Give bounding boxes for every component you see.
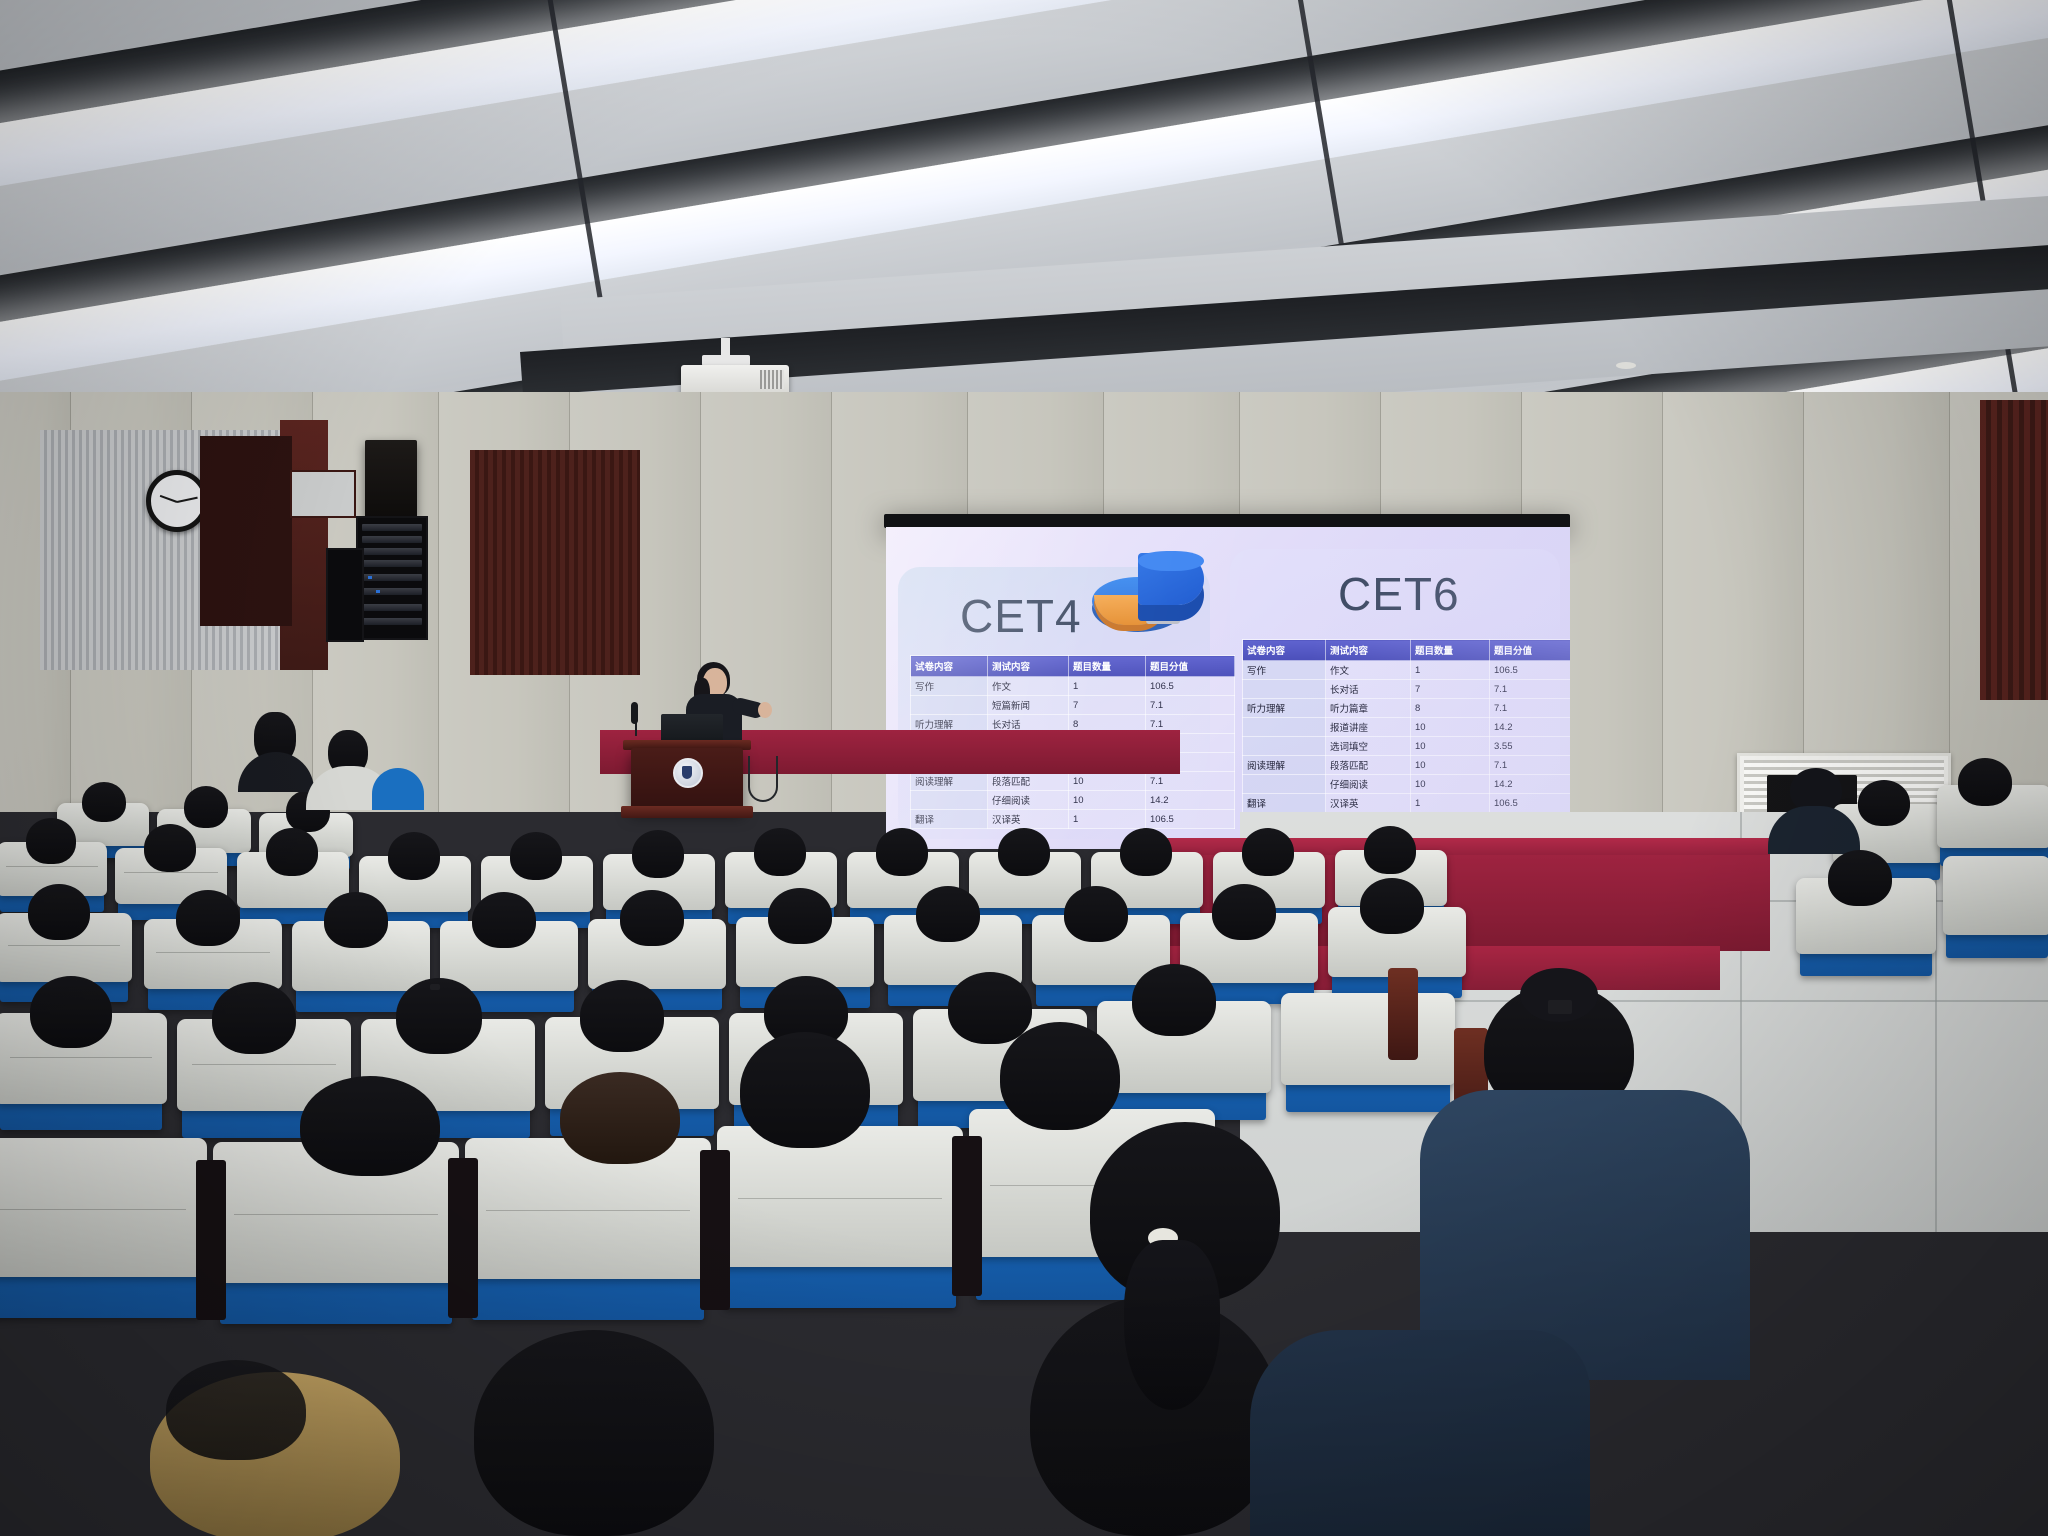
cet6-th-3: 题目分值 [1490, 640, 1571, 661]
rack-status-led [368, 576, 372, 579]
cet4-section-1 [911, 696, 988, 715]
cet6-count-5: 10 [1411, 756, 1490, 775]
cet6-content-4: 选词填空 [1326, 737, 1411, 756]
cet6-content-3: 报道讲座 [1326, 718, 1411, 737]
audience-head [1064, 886, 1128, 942]
audience-head [1364, 826, 1416, 874]
audience-head [560, 1072, 680, 1164]
cet6-content-5: 段落匹配 [1326, 756, 1411, 775]
cet4-th-3: 题目分值 [1146, 656, 1235, 677]
rack-status-led [376, 590, 380, 593]
seat-gap-shadow [952, 1136, 982, 1296]
audience-head [1212, 884, 1276, 940]
cet6-content-1: 长对话 [1326, 680, 1411, 699]
cet6-count-0: 1 [1411, 661, 1490, 680]
audience-head [998, 828, 1050, 876]
audience-head [388, 832, 440, 880]
av-rack-side [326, 548, 364, 642]
audience-head [1120, 828, 1172, 876]
cet4-content-7: 汉译英 [988, 810, 1069, 829]
audience-head [472, 892, 536, 948]
table-row: 翻译汉译英1106.5 [1243, 794, 1571, 813]
door-window [290, 470, 356, 518]
wall-speaker [365, 440, 417, 518]
cet6-content-7: 汉译英 [1326, 794, 1411, 813]
cet4-section-0: 写作 [911, 677, 988, 696]
lecture-hall-photo: CET4 CET6 试卷内容 测试内容 题目数量 题目分值 写作作文11 [0, 0, 2048, 1536]
table-row: 翻译汉译英1106.5 [911, 810, 1235, 829]
cet6-content-0: 作文 [1326, 661, 1411, 680]
cet6-count-4: 10 [1411, 737, 1490, 756]
audience-head [1828, 850, 1892, 906]
cet4-content-1: 短篇新闻 [988, 696, 1069, 715]
cet6-content-2: 听力篇章 [1326, 699, 1411, 718]
cet6-section-3 [1243, 718, 1326, 737]
cet4-count-1: 7 [1069, 696, 1146, 715]
audience-head [510, 832, 562, 880]
audience-head [620, 890, 684, 946]
cet6-score-1: 7.1 [1490, 680, 1571, 699]
door-frame [200, 436, 292, 626]
slide-title-cet6: CET6 [1338, 567, 1460, 621]
lectern-base [621, 806, 753, 818]
presenter-hand [758, 702, 772, 718]
cet4-section-7: 翻译 [911, 810, 988, 829]
audience-head [184, 786, 228, 828]
cet6-content-6: 仔细阅读 [1326, 775, 1411, 794]
cet4-th-0: 试卷内容 [911, 656, 988, 677]
cet6-count-2: 8 [1411, 699, 1490, 718]
cet6-table: 试卷内容 测试内容 题目数量 题目分值 写作作文1106.5 长对话77.1 听… [1242, 639, 1570, 813]
audience-head [916, 886, 980, 942]
audience-head [82, 782, 126, 822]
cet6-section-4 [1243, 737, 1326, 756]
cet6-section-7: 翻译 [1243, 794, 1326, 813]
ponytail [1124, 1240, 1220, 1410]
cet4-th-1: 测试内容 [988, 656, 1069, 677]
cet4-score-5: 7.1 [1146, 772, 1235, 791]
cet4-section-6 [911, 791, 988, 810]
seat[interactable] [1946, 862, 2048, 958]
cet4-score-7: 106.5 [1146, 810, 1235, 829]
podium-cable [748, 756, 778, 802]
podium-microphone [631, 702, 638, 724]
cet6-th-2: 题目数量 [1411, 640, 1490, 661]
seat[interactable] [0, 1148, 200, 1318]
audience-head [212, 982, 296, 1054]
audience-head [632, 830, 684, 878]
table-row: 仔细阅读1014.2 [1243, 775, 1571, 794]
cet4-section-5: 阅读理解 [911, 772, 988, 791]
table-row: 选词填空103.55 [1243, 737, 1571, 756]
audience-head [948, 972, 1032, 1044]
wood-wall-column-right [1980, 400, 2048, 700]
audience-head [28, 884, 90, 940]
audience-head [300, 1076, 440, 1176]
projector-vent [760, 370, 784, 389]
cet6-score-5: 7.1 [1490, 756, 1571, 775]
audience-head [1858, 780, 1910, 826]
audience-shoulders-denim [1250, 1330, 1590, 1536]
cet6-count-3: 10 [1411, 718, 1490, 737]
audience-head [580, 980, 664, 1052]
audience-head [1132, 964, 1216, 1036]
seat-gap-shadow [700, 1150, 730, 1310]
seat[interactable] [1286, 1000, 1450, 1112]
table-row: 仔细阅读1014.2 [911, 791, 1235, 810]
cet6-section-1 [1243, 680, 1326, 699]
wall-clock [146, 470, 208, 532]
table-row: 听力理解听力篇章87.1 [1243, 699, 1571, 718]
audience-head [474, 1330, 714, 1536]
cet4-count-6: 10 [1069, 791, 1146, 810]
cet4-count-0: 1 [1069, 677, 1146, 696]
cet6-section-0: 写作 [1243, 661, 1326, 680]
seat[interactable] [724, 1136, 956, 1308]
audience-head [768, 888, 832, 944]
cet4-count-7: 1 [1069, 810, 1146, 829]
cet4-content-5: 段落匹配 [988, 772, 1069, 791]
audience-head [176, 890, 240, 946]
cet6-count-6: 10 [1411, 775, 1490, 794]
institution-emblem [673, 758, 703, 788]
audience-head [1958, 758, 2012, 806]
cet6-score-4: 3.55 [1490, 737, 1571, 756]
audience-head [740, 1032, 870, 1148]
table-row: 报道讲座1014.2 [1243, 718, 1571, 737]
projection-screen: CET4 CET6 试卷内容 测试内容 题目数量 题目分值 写作作文11 [886, 527, 1570, 849]
hair-clip [430, 984, 440, 990]
seat-gap-shadow [448, 1158, 478, 1318]
seat[interactable] [220, 1152, 452, 1324]
audience-head [754, 828, 806, 876]
audience-head [1000, 1022, 1120, 1130]
3d-pie-chart-icon [1086, 551, 1210, 637]
cet4-score-0: 106.5 [1146, 677, 1235, 696]
cet6-th-1: 测试内容 [1326, 640, 1411, 661]
seat[interactable] [472, 1148, 704, 1320]
audience-head [166, 1360, 306, 1460]
table-row: 写作作文1106.5 [1243, 661, 1571, 680]
cet6-header-row: 试卷内容 测试内容 题目数量 题目分值 [1243, 640, 1571, 661]
audience-head [876, 828, 928, 876]
cet4-header-row: 试卷内容 测试内容 题目数量 题目分值 [911, 656, 1235, 677]
av-equipment-rack [356, 516, 428, 640]
cet6-section-5: 阅读理解 [1243, 756, 1326, 775]
cet6-score-6: 14.2 [1490, 775, 1571, 794]
cet6-score-7: 106.5 [1490, 794, 1571, 813]
projection-screen-frame [884, 514, 1570, 528]
audience-head [30, 976, 112, 1048]
cet4-content-6: 仔细阅读 [988, 791, 1069, 810]
cet6-score-2: 7.1 [1490, 699, 1571, 718]
audience-head [144, 824, 196, 872]
table-row: 写作作文1106.5 [911, 677, 1235, 696]
hair-clip [1548, 1000, 1572, 1014]
cet6-count-7: 1 [1411, 794, 1490, 813]
smoke-detector [1616, 362, 1636, 369]
slide-title-cet4: CET4 [960, 589, 1082, 643]
cet6-score-0: 106.5 [1490, 661, 1571, 680]
audience-head [324, 892, 388, 948]
table-row: 阅读理解段落匹配107.1 [1243, 756, 1571, 775]
cet6-count-1: 7 [1411, 680, 1490, 699]
cet6-section-2: 听力理解 [1243, 699, 1326, 718]
cet4-score-6: 14.2 [1146, 791, 1235, 810]
audience-head [26, 818, 76, 864]
audience-head [1242, 828, 1294, 876]
cet4-count-5: 10 [1069, 772, 1146, 791]
cet4-score-1: 7.1 [1146, 696, 1235, 715]
cet6-section-6 [1243, 775, 1326, 794]
clock-hour-hand [160, 495, 178, 503]
table-row: 长对话77.1 [1243, 680, 1571, 699]
cet6-th-0: 试卷内容 [1243, 640, 1326, 661]
cet4-th-2: 题目数量 [1069, 656, 1146, 677]
audience-head [266, 828, 318, 876]
wood-wall-panel [470, 450, 640, 675]
cet4-content-0: 作文 [988, 677, 1069, 696]
seat-armrest [1388, 968, 1418, 1060]
clock-minute-hand [177, 497, 198, 503]
table-row: 阅读理解段落匹配107.1 [911, 772, 1235, 791]
cet6-score-3: 14.2 [1490, 718, 1571, 737]
audience-head [1360, 878, 1424, 934]
seat-gap-shadow [196, 1160, 226, 1320]
table-row: 短篇新闻77.1 [911, 696, 1235, 715]
